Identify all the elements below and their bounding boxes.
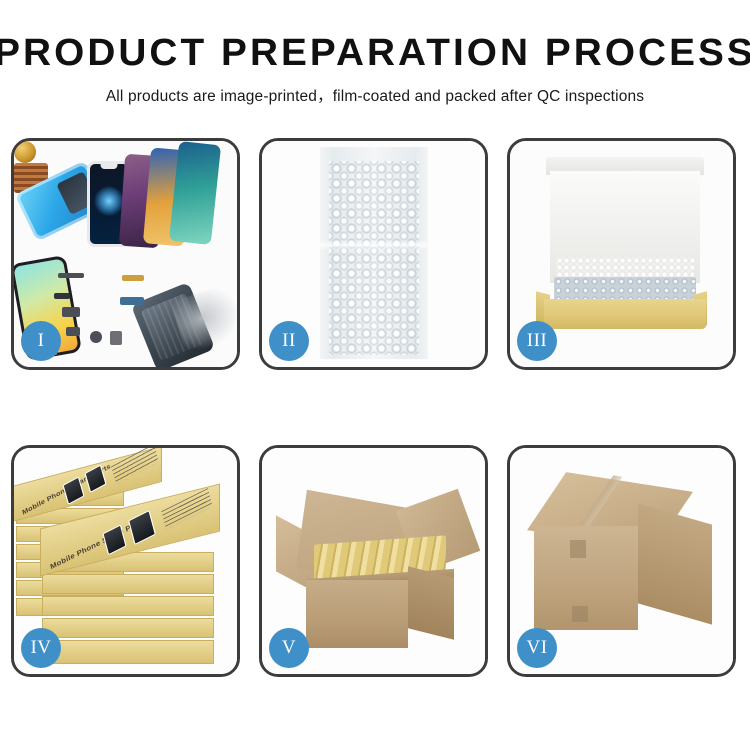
box-spec-lines (111, 448, 159, 484)
step-badge-5: V (269, 628, 309, 668)
antenna-flex-part-icon (120, 297, 144, 305)
step-badge-6: VI (517, 628, 557, 668)
bubble-wrap-sleeve-icon (320, 147, 428, 359)
phone-back-housing-icon (131, 282, 215, 367)
header: PRODUCT PREPARATION PROCESS All products… (0, 0, 750, 106)
step-panel-2: II (259, 138, 488, 370)
stacked-box-item (42, 640, 214, 664)
box-screen-swatch (128, 510, 156, 545)
stacked-box-item (42, 596, 214, 616)
bubble-pattern-icon (329, 161, 419, 355)
speaker-coil-part-icon (14, 141, 36, 163)
vibrator-part-icon (66, 327, 80, 336)
wrap-highlight-icon (320, 240, 428, 250)
carton-side-panel-icon (638, 503, 712, 624)
step-panel-5: V (259, 445, 488, 677)
step-panel-4: Mobile Phone Spare Parts Mobile Phone Sp… (11, 445, 240, 677)
kraft-box-front-icon (544, 299, 706, 329)
screw-strip-part-icon (54, 293, 70, 299)
step-panel-3: III (507, 138, 736, 370)
stacked-box-item (42, 574, 214, 594)
camera-module-part-icon (62, 307, 80, 317)
carton-front-panel-icon (306, 580, 408, 648)
step-panel-1: I (11, 138, 240, 370)
box-spec-lines (161, 488, 212, 529)
step-badge-2: II (269, 321, 309, 361)
carton-seam-tab-icon (570, 540, 586, 558)
step-badge-1: I (21, 321, 61, 361)
carton-side-panel-icon (408, 566, 454, 639)
steps-grid: I II III (11, 138, 739, 677)
flex-cable-part-icon (58, 273, 84, 278)
stacked-box-item (42, 618, 214, 638)
page-title: PRODUCT PREPARATION PROCESS (0, 34, 750, 74)
step-panel-6: VI (507, 445, 736, 677)
button-part-icon (90, 331, 102, 343)
carton-seam-tab-icon (572, 606, 588, 622)
step-badge-4: IV (21, 628, 61, 668)
product-preparation-infographic: PRODUCT PREPARATION PROCESS All products… (0, 0, 750, 750)
phone-display-teal-icon (169, 141, 221, 245)
page-subtitle: All products are image-printed，film-coat… (0, 84, 750, 106)
battery-connector-part-icon (110, 331, 122, 345)
gold-connector-part-icon (122, 275, 144, 281)
step-badge-3: III (517, 321, 557, 361)
